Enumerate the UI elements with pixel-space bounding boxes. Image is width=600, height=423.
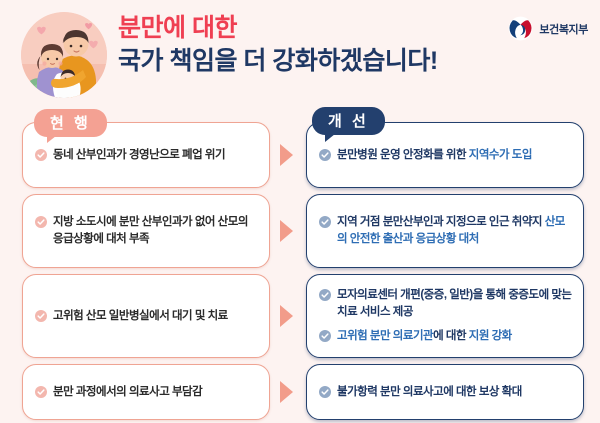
highlight-text: 지원 강화 bbox=[469, 330, 512, 342]
plain-text: 불가항력 분만 의료사고에 대한 보상 확대 bbox=[337, 386, 522, 398]
improved-card: 지역 거점 분만산부인과 지정으로 인근 취약지 산모의 안전한 출산과 응급상… bbox=[306, 194, 584, 268]
comparison-grid: 현 행 개 선 동네 산부인과가 경영난으로 폐업 위기 분만병원 운영 안정화… bbox=[0, 104, 600, 423]
badge-current: 현 행 bbox=[34, 109, 107, 137]
check-circle-icon bbox=[35, 310, 47, 322]
plain-text: 분만 과정에서의 의료사고 부담감 bbox=[53, 386, 202, 398]
plain-text: 지방 소도시에 분만 산부인과가 없어 산모의 응급상황에 대처 부족 bbox=[53, 216, 248, 245]
current-card: 지방 소도시에 분만 산부인과가 없어 산모의 응급상황에 대처 부족 bbox=[22, 194, 270, 268]
plain-text: 분만병원 운영 안정화를 위한 bbox=[337, 149, 469, 161]
highlight-text: 지역수가 도입 bbox=[469, 149, 532, 161]
bullet-item: 고위험 산모 일반병실에서 대기 및 치료 bbox=[35, 308, 259, 325]
right-arrow-icon bbox=[280, 305, 293, 327]
comparison-row: 분만 과정에서의 의료사고 부담감 불가항력 분만 의료사고에 대한 보상 확대 bbox=[0, 364, 600, 420]
badge-improved: 개 선 bbox=[312, 107, 385, 135]
bullet-item: 고위험 분만 의료기관에 대한 지원 강화 bbox=[319, 328, 573, 345]
improved-card: 모자의료센터 개편(중증, 일반)을 통해 중증도에 맞는 치료 서비스 제공고… bbox=[306, 274, 584, 358]
check-circle-icon bbox=[319, 149, 331, 161]
bullet-item: 지역 거점 분만산부인과 지정으로 인근 취약지 산모의 안전한 출산과 응급상… bbox=[319, 214, 573, 247]
infographic-page: 분만에 대한 국가 책임을 더 강화하겠습니다! 보건복지부 현 행 개 선 동… bbox=[0, 0, 600, 423]
plain-text: 고위험 산모 일반병실에서 대기 및 치료 bbox=[53, 310, 228, 322]
bullet-text: 분만 과정에서의 의료사고 부담감 bbox=[53, 384, 202, 401]
bullet-item: 분만 과정에서의 의료사고 부담감 bbox=[35, 384, 259, 401]
bullet-text: 고위험 산모 일반병실에서 대기 및 치료 bbox=[53, 308, 228, 325]
bullet-item: 지방 소도시에 분만 산부인과가 없어 산모의 응급상황에 대처 부족 bbox=[35, 214, 259, 247]
right-arrow-icon bbox=[280, 144, 293, 166]
plain-text: 에 대한 bbox=[433, 330, 469, 342]
check-circle-icon bbox=[319, 289, 331, 301]
header: 분만에 대한 국가 책임을 더 강화하겠습니다! 보건복지부 bbox=[0, 0, 600, 104]
bullet-text: 불가항력 분만 의료사고에 대한 보상 확대 bbox=[337, 384, 522, 401]
title-line-1: 분만에 대한 bbox=[118, 14, 468, 43]
bullet-text: 지방 소도시에 분만 산부인과가 없어 산모의 응급상황에 대처 부족 bbox=[53, 214, 259, 247]
current-card: 고위험 산모 일반병실에서 대기 및 치료 bbox=[22, 274, 270, 358]
bullet-item: 불가항력 분만 의료사고에 대한 보상 확대 bbox=[319, 384, 573, 401]
page-title: 분만에 대한 국가 책임을 더 강화하겠습니다! bbox=[118, 14, 468, 75]
check-circle-icon bbox=[319, 386, 331, 398]
check-circle-icon bbox=[35, 149, 47, 161]
korea-government-taegeuk-emblem-icon bbox=[508, 16, 533, 41]
highlight-text: 고위험 분만 의료기관 bbox=[337, 330, 433, 342]
plain-text: 지역 거점 분만산부인과 지정으로 인근 취약지 bbox=[337, 216, 545, 228]
bullet-text: 지역 거점 분만산부인과 지정으로 인근 취약지 산모의 안전한 출산과 응급상… bbox=[337, 214, 573, 247]
check-circle-icon bbox=[35, 386, 47, 398]
comparison-row: 고위험 산모 일반병실에서 대기 및 치료 모자의료센터 개편(중증, 일반)을… bbox=[0, 274, 600, 358]
check-circle-icon bbox=[35, 216, 47, 228]
plain-text: 동네 산부인과가 경영난으로 폐업 위기 bbox=[53, 149, 225, 161]
comparison-row: 지방 소도시에 분만 산부인과가 없어 산모의 응급상황에 대처 부족 지역 거… bbox=[0, 194, 600, 268]
title-line-2: 국가 책임을 더 강화하겠습니다! bbox=[118, 47, 468, 76]
family-with-newborn-illustration bbox=[21, 12, 107, 98]
check-circle-icon bbox=[319, 330, 331, 342]
bullet-text: 고위험 분만 의료기관에 대한 지원 강화 bbox=[337, 328, 512, 345]
bullet-text: 동네 산부인과가 경영난으로 폐업 위기 bbox=[53, 147, 225, 164]
plain-text: 모자의료센터 개편(중증, 일반)을 통해 중증도에 맞는 치료 서비스 제공 bbox=[337, 289, 572, 318]
right-arrow-icon bbox=[280, 381, 293, 403]
ministry-logo: 보건복지부 bbox=[508, 16, 588, 41]
bullet-text: 분만병원 운영 안정화를 위한 지역수가 도입 bbox=[337, 147, 532, 164]
right-arrow-icon bbox=[280, 220, 293, 242]
current-card: 분만 과정에서의 의료사고 부담감 bbox=[22, 364, 270, 420]
bullet-text: 모자의료센터 개편(중증, 일반)을 통해 중증도에 맞는 치료 서비스 제공 bbox=[337, 287, 573, 320]
improved-card: 불가항력 분만 의료사고에 대한 보상 확대 bbox=[306, 364, 584, 420]
bullet-item: 분만병원 운영 안정화를 위한 지역수가 도입 bbox=[319, 147, 573, 164]
check-circle-icon bbox=[319, 216, 331, 228]
bullet-item: 동네 산부인과가 경영난으로 폐업 위기 bbox=[35, 147, 259, 164]
bullet-item: 모자의료센터 개편(중증, 일반)을 통해 중증도에 맞는 치료 서비스 제공 bbox=[319, 287, 573, 320]
ministry-logo-label: 보건복지부 bbox=[539, 21, 588, 37]
